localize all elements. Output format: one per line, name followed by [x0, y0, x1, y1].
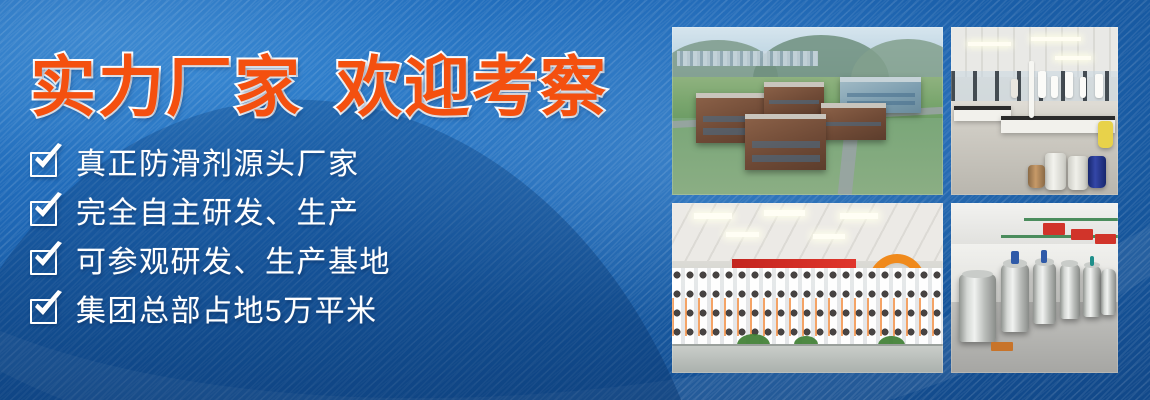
list-item: 完全自主研发、生产 — [30, 194, 391, 233]
mixing-tank — [1083, 266, 1101, 317]
building-window-band — [752, 155, 820, 162]
list-item: 可参观研发、生产基地 — [30, 243, 391, 282]
checkbox-checked-icon — [30, 151, 60, 178]
headline-part-2: 欢迎考察 — [336, 50, 608, 124]
list-item: 真正防滑剂源头厂家 — [30, 145, 391, 184]
ceiling-light-panel — [840, 213, 878, 219]
mixing-tank — [1001, 264, 1029, 332]
yellow-waste-bag — [1098, 121, 1113, 148]
wooden-pallet — [991, 342, 1013, 351]
chemical-drum-blue — [1088, 156, 1106, 188]
building-mid-rear — [764, 82, 824, 116]
tank-motor — [1090, 256, 1095, 266]
reagent-bottle — [1011, 79, 1018, 97]
building-window-band — [826, 122, 881, 126]
safety-sign — [1043, 223, 1065, 235]
safety-sign — [1071, 229, 1093, 241]
tank-motor — [1011, 251, 1018, 265]
staff-lanyards — [672, 298, 943, 335]
list-item: 集团总部占地5万平米 — [30, 292, 391, 331]
bullet-text: 可参观研发、生产基地 — [76, 246, 391, 280]
checkmark-glyph — [31, 143, 64, 176]
checkbox-checked-icon — [30, 200, 60, 227]
reagent-bottle — [1095, 74, 1103, 98]
lab-window-row — [951, 71, 1118, 101]
reagent-bottle — [1051, 76, 1058, 98]
green-pipe-beam — [1024, 218, 1118, 221]
laboratory-photo — [951, 27, 1118, 195]
ceiling-light-panel — [813, 234, 846, 239]
factory-production-photo — [951, 203, 1118, 373]
distant-city-skyline — [677, 51, 818, 66]
checkmark-glyph — [31, 241, 64, 274]
bullet-text: 集团总部占地5万平米 — [76, 295, 378, 329]
ceiling-light-panel — [694, 213, 732, 219]
aerial-campus-photo — [672, 27, 943, 195]
checkmark-glyph — [31, 192, 64, 225]
cardboard-box — [1028, 165, 1045, 189]
tank-lid — [962, 270, 993, 278]
feature-bullet-list: 真正防滑剂源头厂家 完全自主研发、生产 可参观研发、 — [30, 145, 391, 331]
building-right — [821, 103, 886, 140]
office-staff-photo — [672, 203, 943, 373]
building-front — [745, 114, 826, 169]
bullet-text: 完全自主研发、生产 — [76, 197, 360, 231]
ceiling-light-panel — [764, 210, 805, 216]
mixing-tank — [1060, 264, 1080, 318]
ceiling-light — [1031, 37, 1081, 41]
reagent-bottle — [1080, 77, 1087, 97]
building-window-band — [847, 93, 915, 97]
headline-part-1: 实力厂家 — [30, 50, 302, 124]
checkmark-glyph — [31, 290, 64, 323]
ceiling-light-panel — [726, 232, 759, 237]
chemical-drum — [1045, 153, 1067, 190]
mixing-tank — [959, 274, 996, 342]
checkbox-checked-icon — [30, 249, 60, 276]
office-ceiling — [672, 203, 943, 261]
office-desks — [672, 344, 943, 373]
fume-column — [1029, 61, 1034, 118]
safety-sign — [1095, 234, 1117, 244]
ceiling-light — [968, 42, 1011, 46]
tank-lid — [1061, 260, 1078, 267]
photo-grid — [672, 27, 1118, 373]
factory-ceiling — [951, 203, 1118, 247]
bullet-text: 真正防滑剂源头厂家 — [76, 148, 360, 182]
banner-headline: 实力厂家欢迎考察 — [30, 48, 608, 126]
reagent-bottle — [1038, 71, 1046, 98]
mixing-tank — [1101, 269, 1116, 315]
promo-banner: 实力厂家欢迎考察 真正防滑剂源头厂家 完全自 — [0, 0, 1150, 400]
ceiling-light — [1055, 56, 1092, 60]
building-window-band — [752, 141, 820, 148]
checkbox-checked-icon — [30, 298, 60, 325]
reagent-bottle — [1065, 72, 1073, 97]
tank-motor — [1041, 250, 1047, 262]
banner-text-column: 实力厂家欢迎考察 真正防滑剂源头厂家 完全自 — [0, 0, 660, 400]
mixing-tank — [1033, 263, 1056, 324]
chemical-drum — [1068, 156, 1088, 190]
building-window-band — [769, 100, 819, 104]
